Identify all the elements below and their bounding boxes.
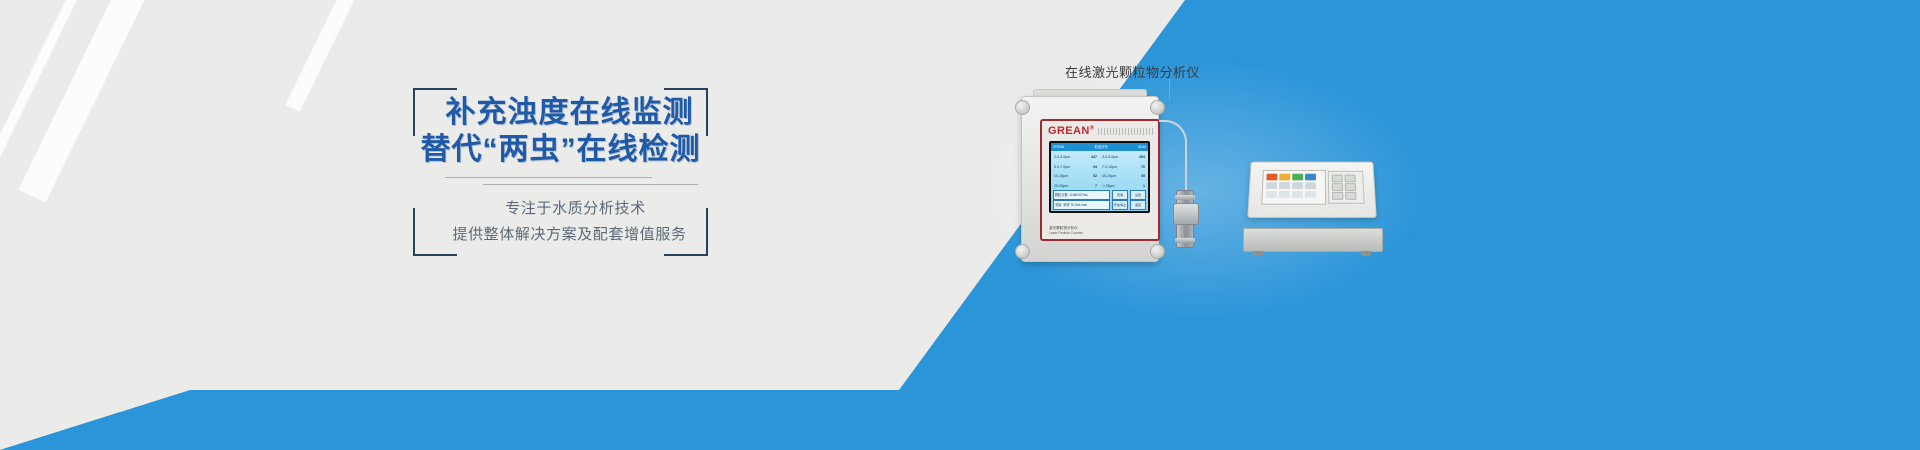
table-row: 10-15µm52 (1053, 172, 1098, 182)
keypad-key[interactable] (1345, 175, 1356, 183)
analyzer-display[interactable]: GREAN 粒径分布 09:48 2.0-3.0µm447 3.0-5.0µm4… (1049, 141, 1150, 213)
bench-key[interactable] (1279, 182, 1290, 189)
bench-key[interactable] (1305, 191, 1316, 198)
subtitle-line-2: 提供整体解决方案及配套增值服务 (413, 222, 708, 248)
bin-value: 94 (1093, 163, 1097, 173)
hero-banner: 补充浊度在线监测 替代“两虫”在线检测 专注于水质分析技术 提供整体解决方案及配… (0, 0, 1920, 450)
bin-value: 447 (1091, 153, 1097, 163)
keypad-key[interactable] (1345, 192, 1356, 200)
keypad-key[interactable] (1345, 183, 1356, 191)
bench-key[interactable] (1292, 182, 1303, 189)
subtitle-line-1: 专注于水质分析技术 (413, 196, 708, 222)
keypad-key[interactable] (1332, 183, 1343, 191)
bench-key[interactable] (1292, 191, 1303, 198)
headline-line-2: 替代“两虫”在线检测 (413, 131, 708, 168)
online-laser-particle-analyzer: GREAN® GREAN 粒径分布 09:48 2.0-3.0µm447 3.0… (1013, 86, 1165, 268)
bench-key[interactable] (1279, 174, 1290, 181)
benchtop-particle-counter (1243, 160, 1381, 252)
bench-display[interactable] (1261, 170, 1326, 205)
display-title-left: GREAN (1053, 143, 1064, 151)
brand-text: GREAN (1048, 125, 1090, 137)
analyzer-label-leader (1169, 78, 1170, 100)
divider-line-upper (445, 177, 652, 178)
display-title-center: 粒径分布 (1095, 143, 1108, 151)
display-surface[interactable]: GREAN 粒径分布 09:48 2.0-3.0µm447 3.0-5.0µm4… (1051, 143, 1148, 211)
bench-key[interactable] (1292, 174, 1303, 181)
table-row: 15-20µm35 (1101, 172, 1146, 182)
bin-label: 10-15µm (1054, 172, 1068, 182)
mounting-lug (1015, 100, 1030, 115)
sensor-cable (1159, 120, 1187, 198)
bench-foot (1361, 251, 1371, 256)
headline-divider (437, 177, 698, 191)
mounting-lug (1150, 100, 1165, 115)
keypad-key[interactable] (1332, 192, 1343, 200)
bench-key[interactable] (1266, 191, 1277, 198)
bench-key[interactable] (1279, 191, 1290, 198)
bench-key[interactable] (1305, 182, 1316, 189)
analyzer-nameplate: 激光颗粒物分析仪 Laser Particle Counter (1049, 226, 1083, 236)
bin-value: 52 (1093, 172, 1097, 182)
display-controls[interactable]: 颗粒计数: 1166CNT/mL 查询 设置 流量: 采样 78.2mL/min… (1053, 191, 1146, 209)
mounting-lug (1150, 244, 1165, 259)
bench-foot (1253, 251, 1263, 256)
bin-label: 2.0-3.0µm (1054, 153, 1070, 163)
control-row: 流量: 采样 78.2mL/min 开始/停止 返回 (1053, 201, 1146, 209)
bin-label: 7.0-10µm (1102, 163, 1117, 173)
analyzer-enclosure: GREAN® GREAN 粒径分布 09:48 2.0-3.0µm447 3.0… (1021, 96, 1159, 262)
table-row: 7.0-10µm76 (1101, 163, 1146, 173)
bench-key[interactable] (1305, 174, 1316, 181)
sensor-ring (1175, 238, 1195, 243)
bench-keypad[interactable] (1328, 171, 1365, 204)
brand-logo: GREAN® (1048, 125, 1095, 137)
back-button[interactable]: 返回 (1130, 200, 1146, 210)
sensor-knob (1173, 203, 1199, 225)
keypad-key[interactable] (1332, 175, 1343, 183)
nameplate-en: Laser Particle Counter (1049, 231, 1083, 235)
bin-value: 35 (1141, 172, 1145, 182)
analyzer-front-panel: GREAN® GREAN 粒径分布 09:48 2.0-3.0µm447 3.0… (1040, 119, 1160, 241)
query-button[interactable]: 查询 (1112, 190, 1128, 200)
flow-sensor-module (1176, 190, 1194, 248)
bench-key-grid (1266, 174, 1316, 198)
display-title-right: 09:48 (1138, 143, 1146, 151)
divider-line-lower (483, 184, 698, 185)
brand-superscript: ® (1090, 125, 1095, 131)
particle-count-field: 颗粒计数: 1166CNT/mL (1053, 190, 1110, 200)
table-row: 3.0-5.0µm454 (1101, 153, 1146, 163)
bench-base (1243, 228, 1383, 252)
bin-label: 5.0-7.0µm (1054, 163, 1070, 173)
vent-hatch (1098, 128, 1153, 135)
bench-key[interactable] (1266, 182, 1277, 189)
bin-label: 15-20µm (1102, 172, 1116, 182)
bin-value: 454 (1139, 153, 1145, 163)
table-row: 5.0-7.0µm94 (1053, 163, 1098, 173)
start-stop-button[interactable]: 开始/停止 (1112, 200, 1128, 210)
display-titlebar: GREAN 粒径分布 09:48 (1051, 143, 1148, 151)
page-title: 补充浊度在线监测 替代“两虫”在线检测 (413, 94, 708, 168)
subtitle-block: 专注于水质分析技术 提供整体解决方案及配套增值服务 (413, 196, 708, 248)
flow-rate-field: 流量: 采样 78.2mL/min (1053, 200, 1110, 210)
headline-line-1: 补充浊度在线监测 (413, 94, 708, 131)
headline-block: 补充浊度在线监测 替代“两虫”在线检测 专注于水质分析技术 提供整体解决方案及配… (413, 88, 708, 256)
control-row: 颗粒计数: 1166CNT/mL 查询 设置 (1053, 191, 1146, 199)
settings-button[interactable]: 设置 (1130, 190, 1146, 200)
mounting-lug (1015, 244, 1030, 259)
sensor-ring (1175, 195, 1195, 200)
bin-value: 76 (1141, 163, 1145, 173)
bin-label: 3.0-5.0µm (1102, 153, 1118, 163)
analyzer-label: 在线激光颗粒物分析仪 (1065, 62, 1200, 81)
bench-top-panel (1247, 162, 1376, 218)
table-row: 2.0-3.0µm447 (1053, 153, 1098, 163)
background-bottom-fill (0, 412, 1920, 450)
bench-key[interactable] (1266, 174, 1277, 181)
particle-size-table: 2.0-3.0µm447 3.0-5.0µm454 5.0-7.0µm94 7.… (1053, 153, 1146, 191)
